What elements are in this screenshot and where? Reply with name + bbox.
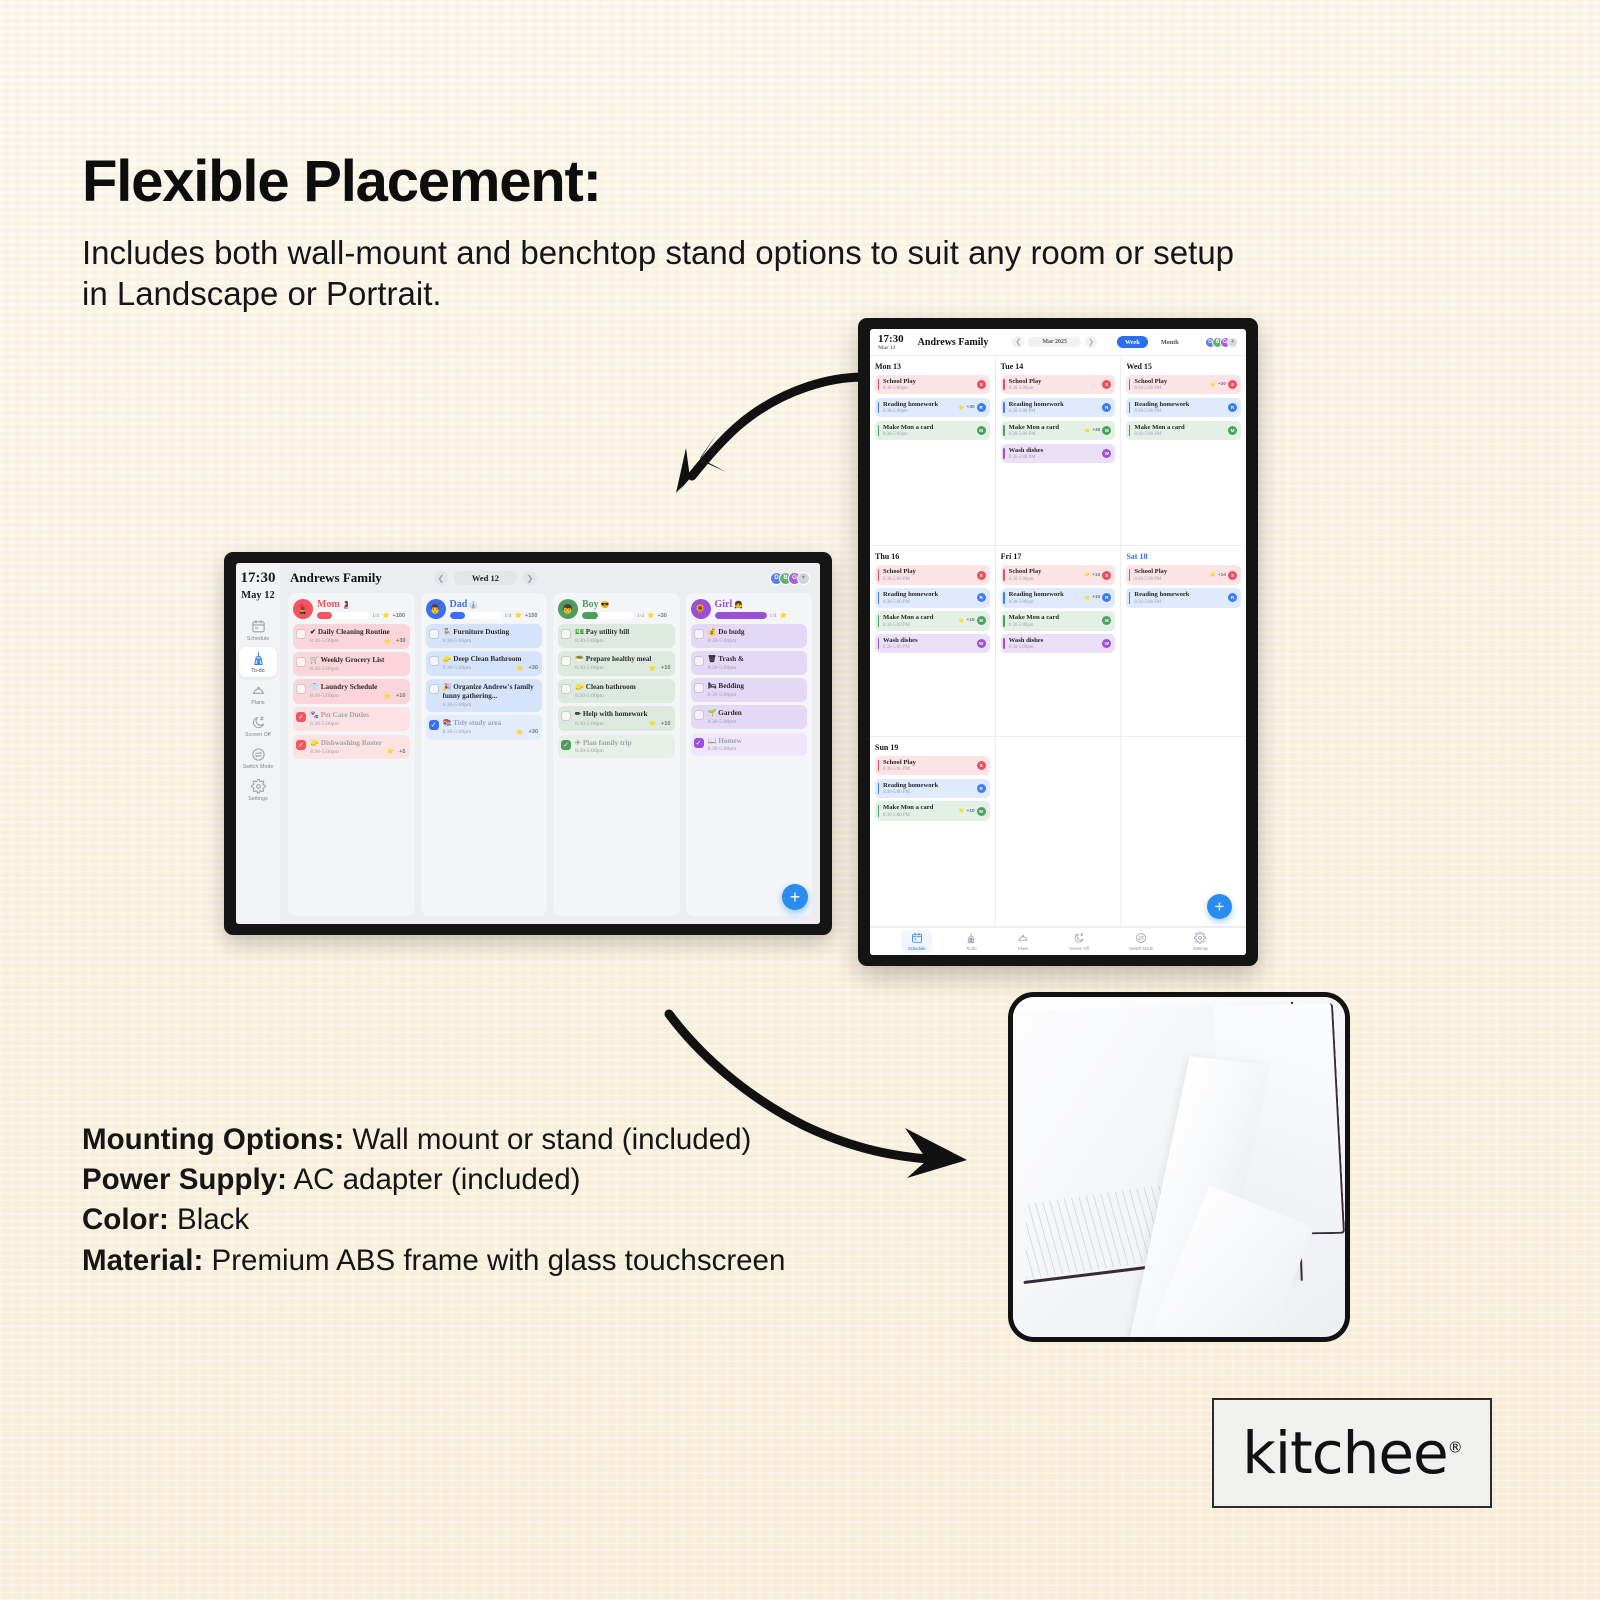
bottom-nav-label: Settings: [1193, 946, 1208, 951]
task-card[interactable]: 🪑 Furniture Dusting8:30-5:00pm: [426, 624, 543, 648]
task-emoji-icon: 👕: [310, 683, 319, 691]
day-label: Wed 15: [1126, 362, 1241, 371]
brand-wordmark: kitchee: [1242, 1419, 1447, 1487]
calendar-event[interactable]: School Play8:30-5:00pmS: [875, 375, 990, 394]
task-time: 8:30-5:00pm: [310, 638, 339, 644]
switch-icon: [1135, 932, 1147, 944]
event-color-bar: [878, 783, 880, 794]
star-icon: ⭐: [649, 720, 656, 727]
task-card[interactable]: 🧽 Deep Clean Bathroom8:30-5:00pm⭐+30: [426, 651, 543, 676]
task-title: ✈ Plan family trip: [575, 739, 671, 748]
task-title: 🛒 Weekly Grocery List: [310, 656, 406, 665]
add-task-button[interactable]: +: [782, 884, 808, 910]
task-checkbox[interactable]: [561, 684, 571, 694]
star-icon: ⭐: [1210, 382, 1216, 388]
task-points: +30: [396, 638, 406, 644]
tab-month[interactable]: Month: [1153, 336, 1187, 348]
event-time: 8:30-5:00 PM: [1134, 432, 1225, 437]
day-cell[interactable]: Fri 17School Play8:30-5:00pm⭐+10SReading…: [996, 546, 1122, 735]
task-name: Daily Cleaning Routine: [318, 628, 390, 636]
landscape-main: Andrews Family ❮ Wed 12 ❯ DBG+ 💄Mom🤰1/4⭐…: [280, 563, 820, 924]
task-name: Do budg: [718, 628, 744, 636]
task-emoji-icon: 🧽: [310, 739, 319, 747]
member-column: 👨Dad👔1/4⭐+150🪑 Furniture Dusting8:30-5:0…: [421, 593, 548, 916]
event-time: 8:30-5:00pm: [1009, 600, 1081, 605]
broom-icon: [251, 651, 266, 666]
task-title: 🌱 Garden: [708, 709, 804, 718]
portrait-family-title: Andrews Family: [918, 337, 989, 348]
task-card[interactable]: 🧽 Clean bathroom8:30-5:00pm: [558, 679, 675, 703]
day-cell[interactable]: Wed 15School Play8:30-5:00 PM⭐+30SReadin…: [1121, 356, 1246, 545]
event-member-dot: R: [977, 593, 986, 602]
event-color-bar: [878, 379, 880, 390]
day-label: Tue 14: [1001, 362, 1116, 371]
spec-row-2: Color: Black: [82, 1200, 822, 1239]
page-subtitle: Includes both wall-mount and benchtop st…: [82, 232, 1252, 315]
task-checkbox[interactable]: [561, 656, 571, 666]
calendar-event[interactable]: Reading homework8:30-5:00pm⭐+30R: [875, 398, 990, 417]
sidebar-item-settings[interactable]: Settings: [239, 775, 277, 805]
event-title: Reading homework: [883, 782, 974, 790]
star-icon: ⭐: [382, 612, 389, 619]
dome-icon: [251, 683, 266, 698]
member-column: 👦Boy😎1/4⭐+30💵 Pay utility bill8:30-5:00p…: [553, 593, 680, 916]
task-name: Laundry Schedule: [321, 683, 378, 691]
event-member-dot: R: [1102, 593, 1111, 602]
star-icon: ⭐: [1084, 595, 1090, 601]
task-checkbox[interactable]: [561, 629, 571, 639]
task-checkbox[interactable]: [296, 657, 306, 667]
task-card[interactable]: 👕 Laundry Schedule8:30-5:00pm⭐+10: [293, 679, 410, 704]
event-title: Wash dishes: [1009, 637, 1100, 645]
bottom-nav-item-to-do[interactable]: To-do: [958, 930, 984, 953]
task-time: 8:30-5:00pm: [575, 665, 604, 671]
calendar-event[interactable]: Reading homework8:30-5:00 PMR: [875, 588, 990, 607]
event-time: 8:30-5:00 PM: [883, 813, 955, 818]
calendar-event[interactable]: Reading homework8:30-5:00 PMR: [1001, 398, 1116, 417]
task-checkbox[interactable]: [694, 656, 704, 666]
task-name: Dishwashing Roster: [321, 739, 382, 747]
task-card[interactable]: 💰 Do budg8:30-5:00pm: [691, 624, 808, 648]
star-icon: ⭐: [958, 405, 964, 411]
task-name: Prepare healthy meal: [586, 655, 652, 663]
landscape-sidebar: 17:30 May 12 ScheduleTo-doPlansScreen Of…: [236, 563, 280, 924]
event-member-dot: W: [1102, 639, 1111, 648]
sidebar-item-label: Plans: [251, 700, 264, 706]
progress-bar: [317, 612, 369, 619]
avatar[interactable]: +: [1227, 337, 1238, 348]
sidebar-item-label: Screen Off: [245, 732, 271, 738]
task-points: +30: [529, 729, 539, 735]
calendar-event[interactable]: Make Mon a card8:30-5:00pmM: [875, 421, 990, 440]
task-name: Trash &: [718, 655, 744, 663]
task-checkbox[interactable]: [561, 711, 571, 721]
task-card[interactable]: ✏ Help with homework8:30-5:00pm⭐+10: [558, 706, 675, 731]
event-color-bar: [878, 805, 880, 816]
event-time: 8:30-5:00 PM: [883, 790, 974, 795]
week-row: Mon 13School Play8:30-5:00pmSReading hom…: [870, 356, 1246, 546]
event-points: +10: [967, 809, 975, 814]
task-name: Plan family trip: [583, 739, 632, 747]
event-points: +10: [1218, 573, 1226, 578]
task-points: +5: [399, 749, 405, 755]
task-card[interactable]: ✓📚 Tidy study area8:30-5:00pm⭐+30: [426, 715, 543, 740]
task-time: 8:30-5:00pm: [708, 638, 737, 644]
day-cell[interactable]: Mon 13School Play8:30-5:00pmSReading hom…: [870, 356, 996, 545]
star-icon: ⭐: [647, 612, 654, 619]
event-title: School Play: [1134, 568, 1206, 576]
current-day-pill[interactable]: Wed 12: [454, 571, 517, 585]
task-card[interactable]: 🌱 Garden8:30-5:00pm: [691, 705, 808, 729]
task-time: 8:30-5:00pm: [575, 721, 604, 727]
calendar-event[interactable]: School Play8:30-5:00 PMS: [875, 756, 990, 775]
event-title: Make Mon a card: [883, 804, 955, 812]
avatar[interactable]: 💄: [293, 599, 313, 619]
spec-row-1: Power Supply: AC adapter (included): [82, 1160, 822, 1199]
bottom-nav-item-plans[interactable]: Plans: [1010, 930, 1036, 953]
task-card[interactable]: ✔ Daily Cleaning Routine8:30-5:00pm⭐+30: [293, 624, 410, 649]
task-card[interactable]: ✓📖 Homew8:30-5:00pm: [691, 733, 808, 757]
avatar[interactable]: 👨: [426, 599, 446, 619]
event-color-bar: [1129, 379, 1131, 390]
event-color-bar: [1003, 402, 1005, 413]
landscape-avatar-stack[interactable]: DBG+: [774, 572, 810, 585]
event-color-bar: [878, 425, 880, 436]
event-member-dot: R: [977, 784, 986, 793]
calendar-event[interactable]: Reading homework8:30-5:00pm⭐+10R: [1001, 588, 1116, 607]
spec-label: Mounting Options:: [82, 1123, 344, 1156]
star-icon: ⭐: [649, 665, 656, 672]
tab-week[interactable]: Week: [1117, 336, 1148, 348]
prev-day-button[interactable]: ❮: [434, 571, 448, 585]
task-name: Homew: [718, 737, 742, 745]
bottom-nav-item-schedule[interactable]: Schedule: [901, 930, 932, 953]
event-member-dot: M: [977, 807, 986, 816]
task-checkbox[interactable]: [296, 684, 306, 694]
task-checkbox[interactable]: ✓: [296, 740, 306, 750]
week-row: Sun 19School Play8:30-5:00 PMSReading ho…: [870, 737, 1246, 927]
calendar-event[interactable]: School Play8:30-5:00pm⭐+10S: [1001, 565, 1116, 584]
task-card[interactable]: 🛒 Weekly Grocery List8:30-5:00pm: [293, 652, 410, 676]
calendar-event[interactable]: Make Mon a card8:30-5:00 PM⭐+10M: [875, 611, 990, 630]
task-card[interactable]: ✓🧽 Dishwashing Roster8:30-5:00pm⭐+5: [293, 735, 410, 760]
day-label: Fri 17: [1001, 552, 1116, 561]
view-toggle[interactable]: Week Month: [1117, 336, 1187, 348]
spec-value: Premium ABS frame with glass touchscreen: [212, 1244, 786, 1277]
star-icon: ⭐: [1084, 428, 1090, 434]
progress-fraction: 1/4: [505, 613, 512, 619]
calendar-icon: [251, 619, 266, 634]
calendar-event[interactable]: Make Mon a card8:30-5:00 PM⭐+10M: [875, 801, 990, 820]
member-name: Boy: [582, 599, 599, 610]
week-row: Thu 16School Play8:30-5:00 PMSReading ho…: [870, 546, 1246, 736]
calendar-event[interactable]: School Play8:30-5:00pmS: [1001, 375, 1116, 394]
task-time: 8:30-5:00pm: [708, 746, 737, 752]
task-checkbox[interactable]: [429, 656, 439, 666]
task-emoji-icon: 📖: [708, 737, 717, 745]
avatar[interactable]: 🌻: [691, 599, 711, 619]
day-cell[interactable]: [996, 737, 1122, 926]
portrait-device: 17:30 Mar 13 Andrews Family ❮ Mar 2025 ❯…: [858, 318, 1258, 966]
event-time: 8:30-5:00 PM: [1134, 386, 1206, 391]
task-emoji-icon: ✏: [575, 710, 581, 718]
event-member-dot: M: [977, 616, 986, 625]
event-color-bar: [1003, 638, 1005, 649]
day-cell[interactable]: Sun 19School Play8:30-5:00 PMSReading ho…: [870, 737, 996, 926]
event-member-dot: S: [977, 761, 986, 770]
page-title: Flexible Placement:: [82, 152, 1262, 213]
member-emoji: 👧: [734, 601, 743, 609]
task-title: 🧽 Deep Clean Bathroom: [443, 655, 539, 664]
event-title: Make Mon a card: [1134, 424, 1225, 432]
event-color-bar: [878, 638, 880, 649]
task-name: Bedding: [718, 682, 744, 690]
task-card[interactable]: ✓✈ Plan family trip8:30-5:00pm: [558, 735, 675, 759]
progress-fraction: 1/4: [770, 613, 777, 619]
task-title: 💵 Pay utility bill: [575, 628, 671, 637]
task-name: Help with homework: [583, 710, 648, 718]
sidebar-item-schedule[interactable]: Schedule: [239, 615, 277, 645]
member-points: +150: [525, 613, 537, 619]
star-icon: ⭐: [780, 612, 787, 619]
event-title: Reading homework: [883, 401, 955, 409]
brand-logo: kitchee®: [1212, 1398, 1492, 1508]
event-time: 8:30-5:00 PM: [1009, 432, 1081, 437]
event-title: Make Mon a card: [883, 614, 955, 622]
calendar-event[interactable]: School Play8:30-5:00 PM⭐+10S: [1126, 565, 1241, 584]
day-cell[interactable]: Thu 16School Play8:30-5:00 PMSReading ho…: [870, 546, 996, 735]
event-title: Reading homework: [1134, 401, 1225, 409]
task-time: 8:30-5:00pm: [443, 665, 472, 671]
landscape-topbar: Andrews Family ❮ Wed 12 ❯ DBG+: [280, 563, 820, 593]
task-checkbox[interactable]: ✓: [429, 720, 439, 730]
broom-icon: [965, 932, 977, 944]
event-color-bar: [1129, 425, 1131, 436]
sidebar-item-to-do[interactable]: To-do: [239, 647, 277, 677]
calendar-event[interactable]: School Play8:30-5:00 PM⭐+30S: [1126, 375, 1241, 394]
task-time: 8:30-5:00pm: [443, 638, 472, 644]
task-name: Weekly Grocery List: [321, 656, 385, 664]
task-checkbox[interactable]: [694, 629, 704, 639]
task-time: 8:30-5:00pm: [310, 666, 339, 672]
event-time: 8:30-5:00 PM: [1009, 455, 1100, 460]
sidebar-item-screen-off[interactable]: Screen Off: [239, 711, 277, 741]
spec-row-3: Material: Premium ABS frame with glass t…: [82, 1241, 822, 1280]
event-points: +30: [1092, 428, 1100, 433]
sidebar-item-switch-mode[interactable]: Switch Mode: [239, 743, 277, 773]
landscape-device: 17:30 May 12 ScheduleTo-doPlansScreen Of…: [224, 552, 832, 935]
event-title: Reading homework: [1009, 401, 1100, 409]
task-card[interactable]: 🎉 Organize Andrew's family funny gatheri…: [426, 679, 543, 711]
landscape-screen: 17:30 May 12 ScheduleTo-doPlansScreen Of…: [236, 563, 820, 924]
event-title: Wash dishes: [1009, 447, 1100, 455]
event-member-dot: S: [1228, 380, 1237, 389]
next-day-button[interactable]: ❯: [523, 571, 537, 585]
event-time: 8:30-5:00pm: [1009, 386, 1100, 391]
task-name: Pet Care Duties: [321, 711, 369, 719]
progress-bar: [582, 612, 634, 619]
sidebar-item-plans[interactable]: Plans: [239, 679, 277, 709]
task-emoji-icon: 🥗: [575, 655, 584, 663]
day-label: Sat 18: [1126, 552, 1241, 561]
event-color-bar: [1003, 569, 1005, 580]
star-icon: ⭐: [384, 693, 391, 700]
task-checkbox[interactable]: [694, 683, 704, 693]
task-emoji-icon: ✔: [310, 628, 316, 636]
event-color-bar: [1003, 615, 1005, 626]
event-time: 8:30-5:00pm: [1009, 623, 1100, 628]
arrow-to-landscape-icon: [630, 350, 890, 510]
member-emoji: 🤰: [342, 601, 351, 609]
calendar-icon: [911, 932, 923, 944]
star-icon: ⭐: [387, 748, 394, 755]
calendar-event[interactable]: Make Mon a card8:30-5:00 PM⭐+30M: [1001, 421, 1116, 440]
avatar[interactable]: +: [797, 572, 810, 585]
member-points: +100: [393, 613, 405, 619]
task-card[interactable]: 🛏 Bedding8:30-5:00pm: [691, 678, 808, 702]
star-icon: ⭐: [958, 618, 964, 624]
member-progress: 1/4⭐+100: [317, 612, 405, 619]
task-card[interactable]: ✓🐾 Pet Care Duties8:30-5:00pm: [293, 707, 410, 731]
calendar-event[interactable]: Reading homework8:30-5:00 PMR: [1126, 588, 1241, 607]
task-emoji-icon: 🪑: [443, 628, 452, 636]
calendar-event[interactable]: Reading homework8:30-5:00 PMR: [1126, 398, 1241, 417]
task-checkbox[interactable]: ✓: [694, 738, 704, 748]
event-points: +30: [1218, 382, 1226, 387]
task-checkbox[interactable]: [694, 710, 704, 720]
task-checkbox[interactable]: [296, 629, 306, 639]
event-title: Make Mon a card: [1009, 424, 1081, 432]
event-title: School Play: [883, 759, 974, 767]
star-icon: ⭐: [515, 612, 522, 619]
calendar-event[interactable]: Wash dishes8:30-5:00 PMW: [875, 634, 990, 653]
task-title: ✏ Help with homework: [575, 710, 671, 719]
add-event-button[interactable]: +: [1207, 894, 1232, 919]
gear-icon: [251, 779, 266, 794]
portrait-avatar-stack[interactable]: DBG+: [1208, 337, 1238, 348]
task-card[interactable]: 🗑 Trash &8:30-5:00pm: [691, 651, 808, 675]
calendar-event[interactable]: Wash dishes8:30-5:00pmW: [1001, 634, 1116, 653]
progress-bar: [450, 612, 502, 619]
avatar[interactable]: 👦: [558, 599, 578, 619]
event-member-dot: S: [977, 571, 986, 580]
landscape-date: May 12: [241, 590, 275, 601]
event-time: 8:30-5:00 PM: [883, 623, 955, 628]
day-cell[interactable]: Sat 18School Play8:30-5:00 PM⭐+10SReadin…: [1121, 546, 1246, 735]
task-title: 🗑 Trash &: [708, 655, 804, 664]
spec-label: Power Supply:: [82, 1163, 287, 1196]
event-color-bar: [1003, 425, 1005, 436]
portrait-date: Mar 13: [878, 345, 904, 351]
event-title: School Play: [1009, 568, 1081, 576]
event-time: 8:30-5:00 PM: [883, 600, 974, 605]
task-checkbox[interactable]: ✓: [561, 740, 571, 750]
event-color-bar: [1129, 402, 1131, 413]
task-title: 🥗 Prepare healthy meal: [575, 655, 671, 664]
calendar-event[interactable]: Make Mon a card8:30-5:00pmM: [1001, 611, 1116, 630]
member-progress: 1/4⭐+150: [450, 612, 538, 619]
event-points: +10: [967, 618, 975, 623]
star-icon: ⭐: [1210, 572, 1216, 578]
bottom-nav-item-settings[interactable]: Settings: [1186, 930, 1215, 953]
prev-month-button[interactable]: ❮: [1012, 336, 1024, 348]
event-member-dot: M: [1228, 426, 1237, 435]
event-title: Reading homework: [1009, 591, 1081, 599]
bottom-nav-label: Screen Off: [1069, 946, 1089, 951]
progress-bar: [715, 612, 767, 619]
task-name: Deep Clean Bathroom: [453, 655, 521, 663]
day-cell[interactable]: Tue 14School Play8:30-5:00pmSReading hom…: [996, 356, 1122, 545]
task-checkbox[interactable]: [429, 629, 439, 639]
spec-label: Material:: [82, 1244, 203, 1277]
task-checkbox[interactable]: [429, 684, 439, 694]
event-member-dot: M: [1102, 426, 1111, 435]
event-title: School Play: [883, 568, 974, 576]
member-emoji: 👔: [469, 601, 478, 609]
member-header: 👨Dad👔1/4⭐+150: [426, 599, 543, 619]
spec-value: Black: [177, 1203, 249, 1236]
brand-name: kitchee®: [1242, 1419, 1461, 1487]
event-time: 8:30-5:00 PM: [1134, 577, 1206, 582]
progress-fraction: 1/4: [372, 613, 379, 619]
calendar-event[interactable]: Reading homework8:30-5:00 PMR: [875, 779, 990, 798]
task-name: Furniture Dusting: [453, 628, 509, 636]
portrait-month-nav: ❮ Mar 2025 ❯: [1012, 336, 1097, 348]
landscape-clock: 17:30: [241, 571, 276, 586]
bottom-nav-label: To-do: [966, 946, 976, 951]
bottom-nav-item-screen-off[interactable]: Screen Off: [1062, 930, 1096, 953]
star-icon: ⭐: [1084, 572, 1090, 578]
task-checkbox[interactable]: ✓: [296, 712, 306, 722]
member-header: 👦Boy😎1/4⭐+30: [558, 599, 675, 619]
event-time: 8:30-5:00 PM: [1134, 409, 1225, 414]
calendar-event[interactable]: Wash dishes8:30-5:00 PMW: [1001, 444, 1116, 463]
event-points: +30: [967, 405, 975, 410]
portrait-week-grid: Mon 13School Play8:30-5:00pmSReading hom…: [870, 356, 1246, 927]
member-emoji: 😎: [601, 601, 610, 609]
event-title: School Play: [1134, 378, 1206, 386]
event-title: School Play: [883, 378, 974, 386]
event-points: +10: [1092, 595, 1100, 600]
event-time: 8:30-5:00pm: [1009, 645, 1100, 650]
event-member-dot: R: [1102, 403, 1111, 412]
task-card[interactable]: 💵 Pay utility bill8:30-5:00pm: [558, 624, 675, 648]
task-emoji-icon: 💰: [708, 628, 717, 636]
current-month-pill[interactable]: Mar 2025: [1028, 337, 1081, 347]
event-color-bar: [878, 760, 880, 771]
event-color-bar: [1003, 379, 1005, 390]
event-time: 8:30-5:00 PM: [883, 645, 974, 650]
task-title: 🪑 Furniture Dusting: [443, 628, 539, 637]
task-emoji-icon: 📚: [443, 719, 452, 727]
event-color-bar: [1129, 592, 1131, 603]
task-card[interactable]: 🥗 Prepare healthy meal8:30-5:00pm⭐+10: [558, 651, 675, 676]
event-title: Make Mon a card: [1009, 614, 1100, 622]
member-column: 💄Mom🤰1/4⭐+100✔ Daily Cleaning Routine8:3…: [288, 593, 415, 916]
calendar-event[interactable]: Make Mon a card8:30-5:00 PMM: [1126, 421, 1241, 440]
day-label: Mon 13: [875, 362, 990, 371]
task-points: +10: [661, 665, 671, 671]
event-time: 8:30-5:00pm: [883, 432, 974, 437]
bottom-nav-item-switch-mode[interactable]: Switch Mode: [1122, 930, 1160, 953]
landscape-member-columns: 💄Mom🤰1/4⭐+100✔ Daily Cleaning Routine8:3…: [280, 593, 820, 924]
task-emoji-icon: 🛏: [708, 682, 717, 690]
task-points: +10: [661, 721, 671, 727]
calendar-event[interactable]: School Play8:30-5:00 PMS: [875, 565, 990, 584]
next-month-button[interactable]: ❯: [1085, 336, 1097, 348]
member-column: 🌻Girl👧1/4⭐💰 Do budg8:30-5:00pm🗑 Trash &8…: [686, 593, 813, 916]
task-title: 👕 Laundry Schedule: [310, 683, 406, 692]
